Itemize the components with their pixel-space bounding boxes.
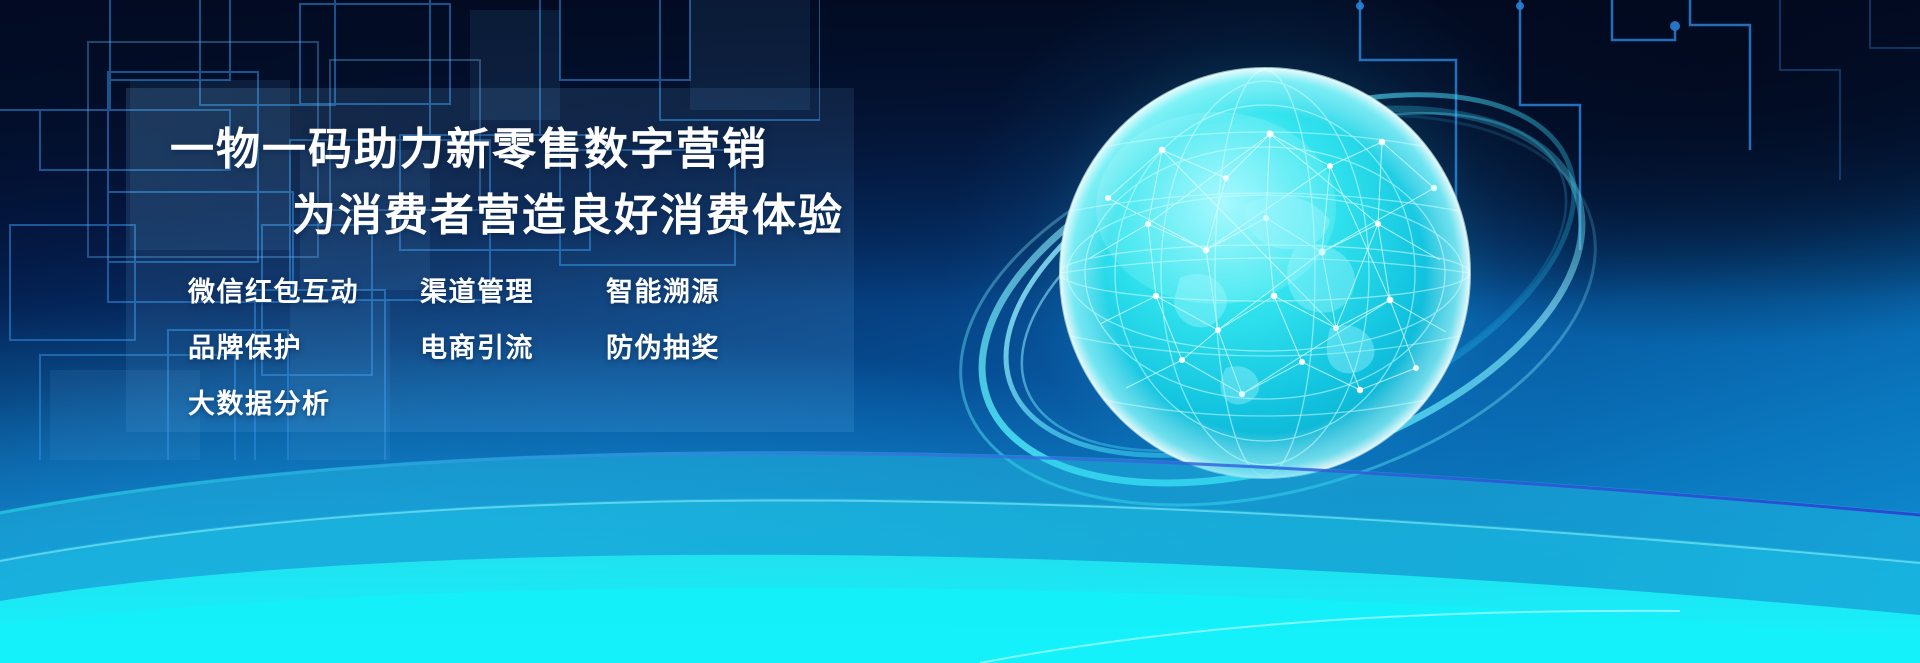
feature-tag[interactable]: 微信红包互动 [188,270,420,309]
marketing-banner: 一物一码助力新零售数字营销 为消费者营造良好消费体验 微信红包互动 渠道管理 智… [0,0,1920,663]
feature-tag[interactable]: 智能溯源 [606,270,720,309]
feature-tag-list: 微信红包互动 渠道管理 智能溯源 品牌保护 电商引流 防伪抽奖 大数据分析 [188,270,888,438]
feature-tag-row: 品牌保护 电商引流 防伪抽奖 [188,326,888,382]
feature-tag[interactable]: 渠道管理 [420,270,606,309]
headline-line-2: 为消费者营造良好消费体验 [292,194,844,238]
feature-tag[interactable]: 电商引流 [420,326,606,365]
feature-tag-row: 大数据分析 [188,382,888,438]
feature-tag-row: 微信红包互动 渠道管理 智能溯源 [188,270,888,326]
feature-tag[interactable]: 品牌保护 [188,326,420,365]
headline-line-1: 一物一码助力新零售数字营销 [170,128,768,172]
feature-tag[interactable]: 防伪抽奖 [606,326,720,365]
feature-tag[interactable]: 大数据分析 [188,382,420,421]
